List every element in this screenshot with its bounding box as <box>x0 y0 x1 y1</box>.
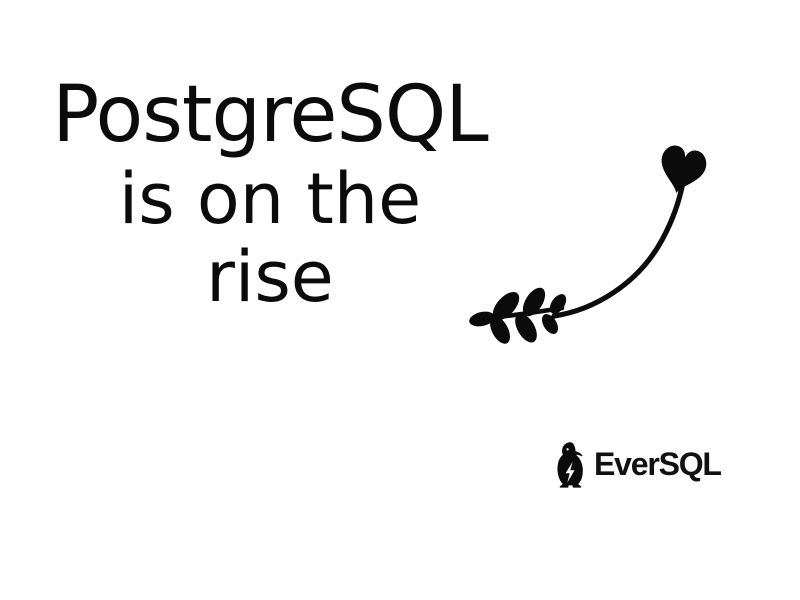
arrow-group <box>468 143 709 347</box>
rising-arrow-illustration <box>462 126 722 366</box>
arrow-shaft <box>554 182 683 316</box>
eversql-logo: EverSQL <box>553 439 713 491</box>
eversql-wordmark: EverSQL <box>594 448 721 482</box>
headline: PostgreSQL is on the rise <box>40 78 500 311</box>
headline-line-2: is on the <box>40 166 500 234</box>
headline-line-3: rise <box>40 244 500 312</box>
penguin-icon <box>553 441 587 489</box>
headline-line-1: PostgreSQL <box>40 78 500 154</box>
poster-canvas: PostgreSQL is on the rise <box>0 0 800 600</box>
